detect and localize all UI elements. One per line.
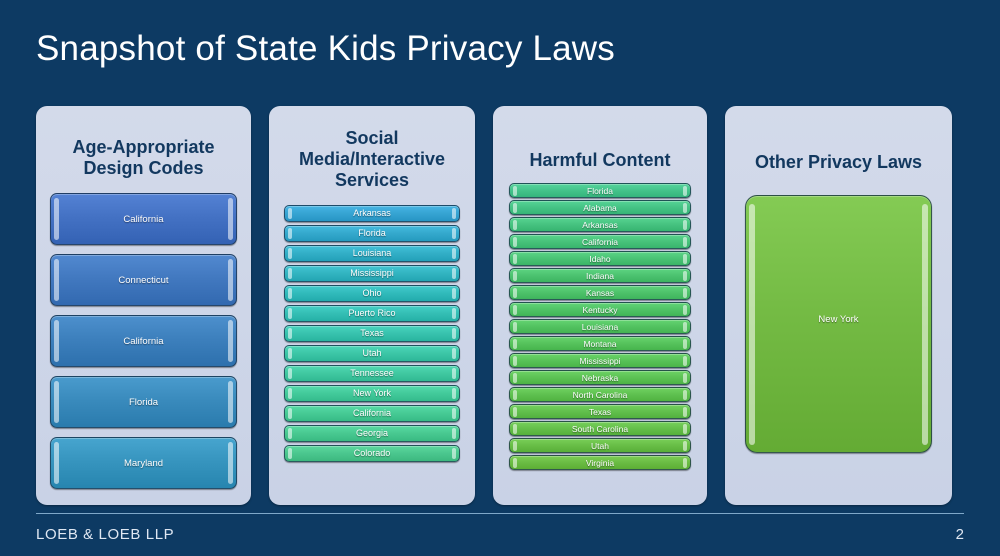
state-chip-label: South Carolina bbox=[572, 424, 628, 434]
state-chip[interactable]: Virginia bbox=[509, 455, 691, 470]
state-chip[interactable]: Utah bbox=[509, 438, 691, 453]
state-chip-label: Tennessee bbox=[350, 368, 394, 378]
state-chip[interactable]: Kentucky bbox=[509, 302, 691, 317]
state-chip[interactable]: California bbox=[284, 405, 460, 422]
state-chip[interactable]: Idaho bbox=[509, 251, 691, 266]
state-chip-label: Indiana bbox=[586, 271, 614, 281]
state-chip-label: Florida bbox=[358, 228, 386, 238]
footer-page-number: 2 bbox=[956, 526, 964, 543]
state-chip[interactable]: Maryland bbox=[50, 437, 237, 489]
chip-list-social-media-interactive-services: Arkansas Florida Louisiana Mississippi O… bbox=[269, 205, 475, 462]
state-chip[interactable]: Connecticut bbox=[50, 254, 237, 306]
state-chip-label: Louisiana bbox=[353, 248, 392, 258]
state-chip-label: Georgia bbox=[356, 428, 388, 438]
state-chip-label: Florida bbox=[587, 186, 613, 196]
state-chip[interactable]: Ohio bbox=[284, 285, 460, 302]
state-chip[interactable]: Texas bbox=[509, 404, 691, 419]
state-chip[interactable]: Montana bbox=[509, 336, 691, 351]
state-chip[interactable]: New York bbox=[284, 385, 460, 402]
state-chip[interactable]: Colorado bbox=[284, 445, 460, 462]
panel-title-age-appropriate-design-codes: Age-Appropriate Design Codes bbox=[45, 137, 243, 179]
state-chip-label: Ohio bbox=[362, 288, 381, 298]
state-chip-label: Puerto Rico bbox=[348, 308, 395, 318]
state-chip-label: Mississippi bbox=[350, 268, 394, 278]
state-chip[interactable]: Kansas bbox=[509, 285, 691, 300]
state-chip[interactable]: Florida bbox=[50, 376, 237, 428]
state-chip-label: Arkansas bbox=[582, 220, 617, 230]
state-chip[interactable]: California bbox=[50, 193, 237, 245]
state-chip[interactable]: Tennessee bbox=[284, 365, 460, 382]
state-chip[interactable]: California bbox=[509, 234, 691, 249]
state-chip[interactable]: South Carolina bbox=[509, 421, 691, 436]
state-chip-label: Louisiana bbox=[582, 322, 618, 332]
state-chip-label: Montana bbox=[583, 339, 616, 349]
columns-container: Age-Appropriate Design Codes California … bbox=[36, 106, 964, 505]
panel-other-privacy-laws: Other Privacy Laws New York bbox=[725, 106, 952, 505]
state-chip-label: Texas bbox=[360, 328, 384, 338]
state-chip-label: California bbox=[123, 214, 163, 225]
state-chip-label: New York bbox=[353, 388, 391, 398]
state-chip[interactable]: Arkansas bbox=[284, 205, 460, 222]
state-chip[interactable]: Florida bbox=[509, 183, 691, 198]
state-chip-label: Colorado bbox=[354, 448, 391, 458]
state-chip-label: Florida bbox=[129, 397, 158, 408]
panel-title-social-media-interactive-services: Social Media/Interactive Services bbox=[277, 128, 467, 192]
state-chip-label: New York bbox=[818, 314, 858, 325]
state-chip-label: Idaho bbox=[589, 254, 610, 264]
state-chip-label: Utah bbox=[591, 441, 609, 451]
state-chip-label: Virginia bbox=[586, 458, 614, 468]
state-chip-label: California bbox=[123, 336, 163, 347]
panel-title-harmful-content: Harmful Content bbox=[502, 150, 699, 171]
state-chip[interactable]: Indiana bbox=[509, 268, 691, 283]
chip-list-harmful-content: Florida Alabama Arkansas California Idah… bbox=[493, 183, 707, 470]
state-chip[interactable]: Mississippi bbox=[509, 353, 691, 368]
state-chip[interactable]: Florida bbox=[284, 225, 460, 242]
chip-list-other-privacy-laws: New York bbox=[725, 195, 952, 453]
state-chip-label: Nebraska bbox=[582, 373, 618, 383]
state-chip[interactable]: New York bbox=[745, 195, 932, 453]
state-chip[interactable]: California bbox=[50, 315, 237, 367]
state-chip[interactable]: Louisiana bbox=[509, 319, 691, 334]
state-chip[interactable]: Arkansas bbox=[509, 217, 691, 232]
state-chip-label: Maryland bbox=[124, 458, 163, 469]
chip-list-age-appropriate-design-codes: California Connecticut California Florid… bbox=[36, 193, 251, 489]
state-chip-label: Kentucky bbox=[583, 305, 618, 315]
state-chip-label: North Carolina bbox=[573, 390, 628, 400]
state-chip[interactable]: Puerto Rico bbox=[284, 305, 460, 322]
footer-firm-name: LOEB & LOEB LLP bbox=[36, 526, 174, 543]
panel-age-appropriate-design-codes: Age-Appropriate Design Codes California … bbox=[36, 106, 251, 505]
state-chip-label: California bbox=[353, 408, 391, 418]
state-chip[interactable]: Louisiana bbox=[284, 245, 460, 262]
panel-harmful-content: Harmful Content Florida Alabama Arkansas… bbox=[493, 106, 707, 505]
state-chip-label: California bbox=[582, 237, 618, 247]
footer-divider bbox=[36, 513, 964, 514]
panel-title-other-privacy-laws: Other Privacy Laws bbox=[734, 152, 943, 173]
page-title: Snapshot of State Kids Privacy Laws bbox=[36, 29, 615, 69]
state-chip[interactable]: Texas bbox=[284, 325, 460, 342]
panel-social-media-interactive-services: Social Media/Interactive Services Arkans… bbox=[269, 106, 475, 505]
state-chip-label: Utah bbox=[362, 348, 381, 358]
state-chip-label: Mississippi bbox=[579, 356, 620, 366]
state-chip-label: Connecticut bbox=[118, 275, 168, 286]
state-chip-label: Texas bbox=[589, 407, 611, 417]
state-chip-label: Alabama bbox=[583, 203, 617, 213]
state-chip-label: Arkansas bbox=[353, 208, 391, 218]
state-chip[interactable]: Nebraska bbox=[509, 370, 691, 385]
state-chip-label: Kansas bbox=[586, 288, 614, 298]
state-chip[interactable]: Georgia bbox=[284, 425, 460, 442]
state-chip[interactable]: North Carolina bbox=[509, 387, 691, 402]
state-chip[interactable]: Mississippi bbox=[284, 265, 460, 282]
state-chip[interactable]: Utah bbox=[284, 345, 460, 362]
state-chip[interactable]: Alabama bbox=[509, 200, 691, 215]
